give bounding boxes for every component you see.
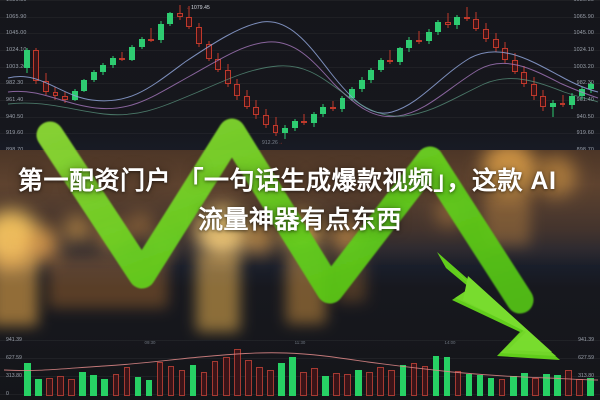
headline-line-1: 第一配资门户 「一句话生成爆款视频」，这款 AI [14,162,586,201]
headline-line-2: 流量神器有点东西 [14,201,586,240]
volume-ma-line [0,336,600,400]
price-marker-low-value: 912.26 [262,140,278,146]
price-marker-high: ←1079.45 [186,5,210,11]
bokeh-reflection [286,254,326,324]
ma-line-short [8,22,598,114]
bokeh-reflection [196,254,240,332]
bokeh-reflection [48,256,168,308]
price-marker-low-dash: → [278,140,283,146]
price-marker-low: 912.26→ [262,140,283,146]
ma-line-long [8,66,598,116]
moving-average-overlays [0,0,600,150]
thumbnail-image: 1086.801065.901045.001024.101003.20982.3… [0,0,600,400]
price-marker-high-value: 1079.45 [191,5,210,11]
bokeh-reflection [0,254,38,326]
headline: 第一配资门户 「一句话生成爆款视频」，这款 AI 流量神器有点东西 [0,162,600,240]
bokeh-reflection [336,256,366,302]
volume-chart-panel: 941.39627.59313.800 941.39627.59313.80 [0,336,600,400]
price-chart-panel: 1086.801065.901045.001024.101003.20982.3… [0,0,600,150]
